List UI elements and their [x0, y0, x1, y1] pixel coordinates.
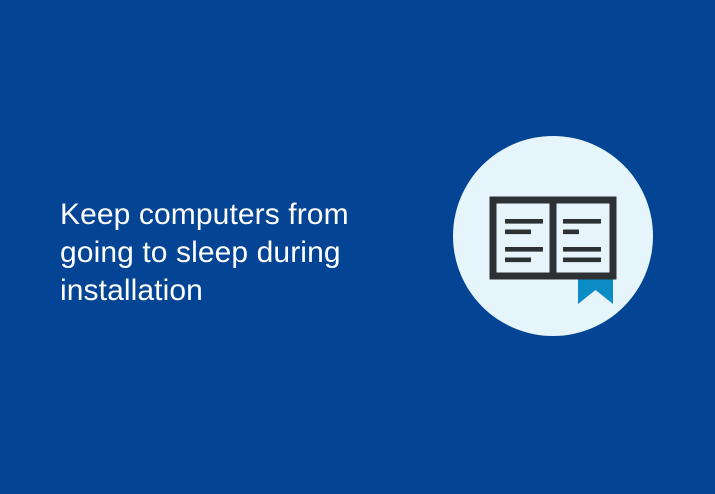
book-line: [563, 219, 601, 224]
book-line: [563, 247, 601, 252]
book-line: [505, 230, 531, 235]
book-line: [563, 258, 601, 263]
book-line: [505, 258, 531, 263]
page-title: Keep computers from going to sleep durin…: [60, 196, 400, 310]
book-line: [563, 230, 579, 235]
open-book-with-bookmark-icon: [453, 136, 653, 336]
book-line: [505, 247, 543, 252]
slide-canvas: Keep computers from going to sleep durin…: [0, 0, 715, 494]
book-line: [505, 219, 543, 224]
book-spine: [550, 200, 557, 276]
